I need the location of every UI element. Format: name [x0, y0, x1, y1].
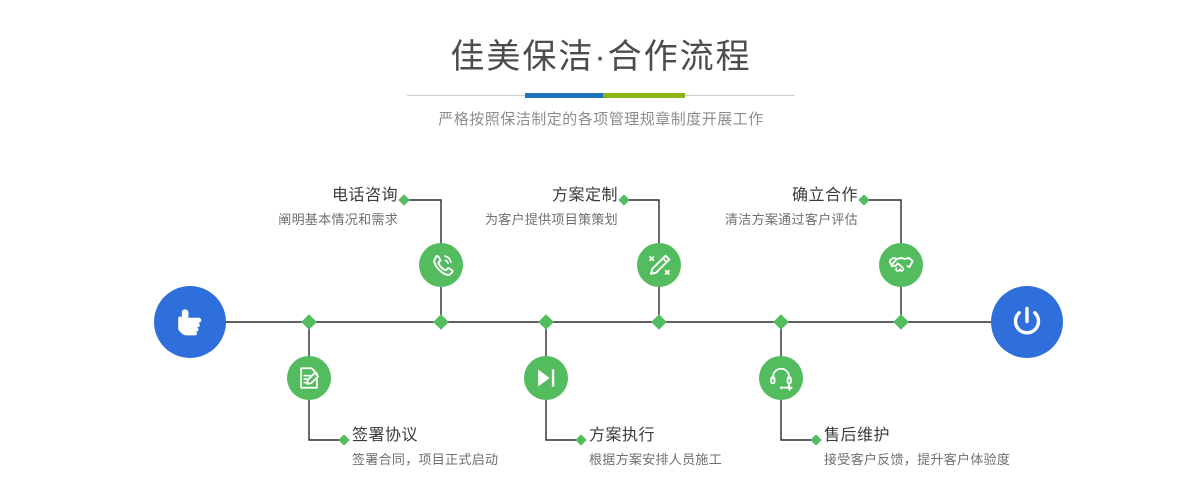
hand-point-right-icon: [170, 302, 210, 342]
headset-support-icon: [768, 365, 795, 392]
step-label-4: 方案执行 根据方案安排人员施工: [589, 426, 722, 470]
step-label-5: 确立合作 清洁方案通过客户评估: [656, 186, 858, 230]
power-icon: [1006, 301, 1048, 343]
step-label-1: 电话咨询 阐明基本情况和需求: [200, 186, 398, 230]
flow-start-node[interactable]: [154, 286, 226, 358]
step-title-3: 方案定制: [420, 186, 618, 206]
step-node-6[interactable]: [759, 356, 803, 400]
step-label-3: 方案定制 为客户提供项目策策划: [420, 186, 618, 230]
play-execute-icon: [533, 365, 559, 391]
step-desc-1: 阐明基本情况和需求: [200, 210, 398, 230]
step-desc-2: 签署合同，项目正式启动: [352, 450, 498, 470]
step-title-5: 确立合作: [656, 186, 858, 206]
label-markers: [338, 194, 869, 445]
step-title-6: 售后维护: [824, 426, 1010, 446]
phone-call-icon: [428, 252, 455, 279]
flow-end-node[interactable]: [991, 286, 1063, 358]
step-node-4[interactable]: [524, 356, 568, 400]
step-node-5[interactable]: [879, 243, 923, 287]
step-label-2: 签署协议 签署合同，项目正式启动: [352, 426, 498, 470]
step-node-3[interactable]: [637, 243, 681, 287]
document-edit-icon: [296, 365, 322, 391]
step-label-6: 售后维护 接受客户反馈，提升客户体验度: [824, 426, 1010, 470]
pencil-design-icon: [646, 252, 673, 279]
process-flow: 电话咨询 阐明基本情况和需求 方案定制 为客户提供项目策策划 确立合作 清洁方案…: [0, 0, 1202, 502]
step-node-2[interactable]: [287, 356, 331, 400]
step-title-4: 方案执行: [589, 426, 722, 446]
step-desc-6: 接受客户反馈，提升客户体验度: [824, 450, 1010, 470]
step-node-1[interactable]: [419, 243, 463, 287]
step-desc-4: 根据方案安排人员施工: [589, 450, 722, 470]
step-title-1: 电话咨询: [200, 186, 398, 206]
infographic-root: 佳美保洁·合作流程 严格按照保洁制定的各项管理规章制度开展工作: [0, 0, 1202, 502]
step-desc-3: 为客户提供项目策策划: [420, 210, 618, 230]
handshake-icon: [887, 251, 915, 279]
step-title-2: 签署协议: [352, 426, 498, 446]
step-desc-5: 清洁方案通过客户评估: [656, 210, 858, 230]
